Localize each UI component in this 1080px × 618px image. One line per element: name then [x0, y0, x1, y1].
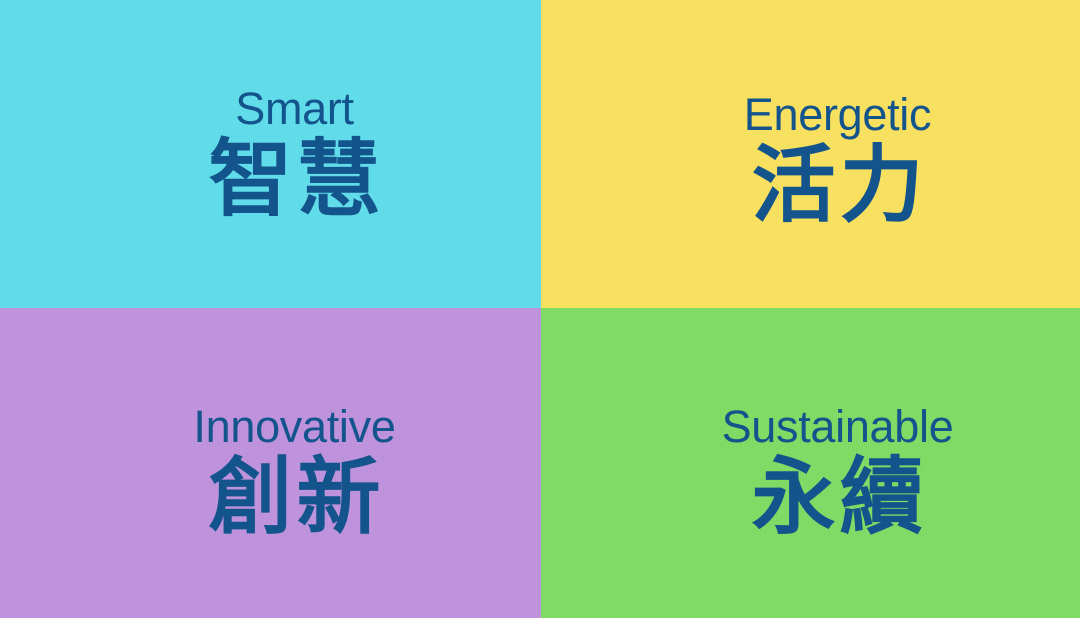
- quadrant-grid: Smart 智慧 Energetic 活力 Innovative 創新 Sust…: [0, 0, 1080, 618]
- quadrant-smart-text-block: Smart 智慧: [24, 86, 541, 221]
- quadrant-energetic[interactable]: Energetic 活力: [541, 0, 1080, 308]
- quadrant-sustainable-label-en: Sustainable: [722, 404, 954, 449]
- quadrant-smart-label-en: Smart: [235, 86, 354, 131]
- quadrant-sustainable-text-block: Sustainable 永續: [568, 404, 1080, 539]
- quadrant-innovative[interactable]: Innovative 創新: [0, 308, 541, 618]
- quadrant-sustainable-label-zh: 永續: [747, 455, 927, 539]
- quadrant-innovative-label-zh: 創新: [204, 455, 384, 539]
- quadrant-innovative-text-block: Innovative 創新: [24, 404, 541, 539]
- quadrant-smart-label-zh: 智慧: [204, 137, 384, 221]
- quadrant-smart[interactable]: Smart 智慧: [0, 0, 541, 308]
- brand-values-poster: Smart 智慧 Energetic 活力 Innovative 創新 Sust…: [0, 0, 1080, 618]
- quadrant-energetic-label-en: Energetic: [744, 92, 931, 137]
- quadrant-innovative-label-en: Innovative: [193, 404, 395, 449]
- quadrant-energetic-label-zh: 活力: [747, 143, 927, 227]
- quadrant-energetic-text-block: Energetic 活力: [568, 92, 1080, 227]
- quadrant-sustainable[interactable]: Sustainable 永續: [541, 308, 1080, 618]
